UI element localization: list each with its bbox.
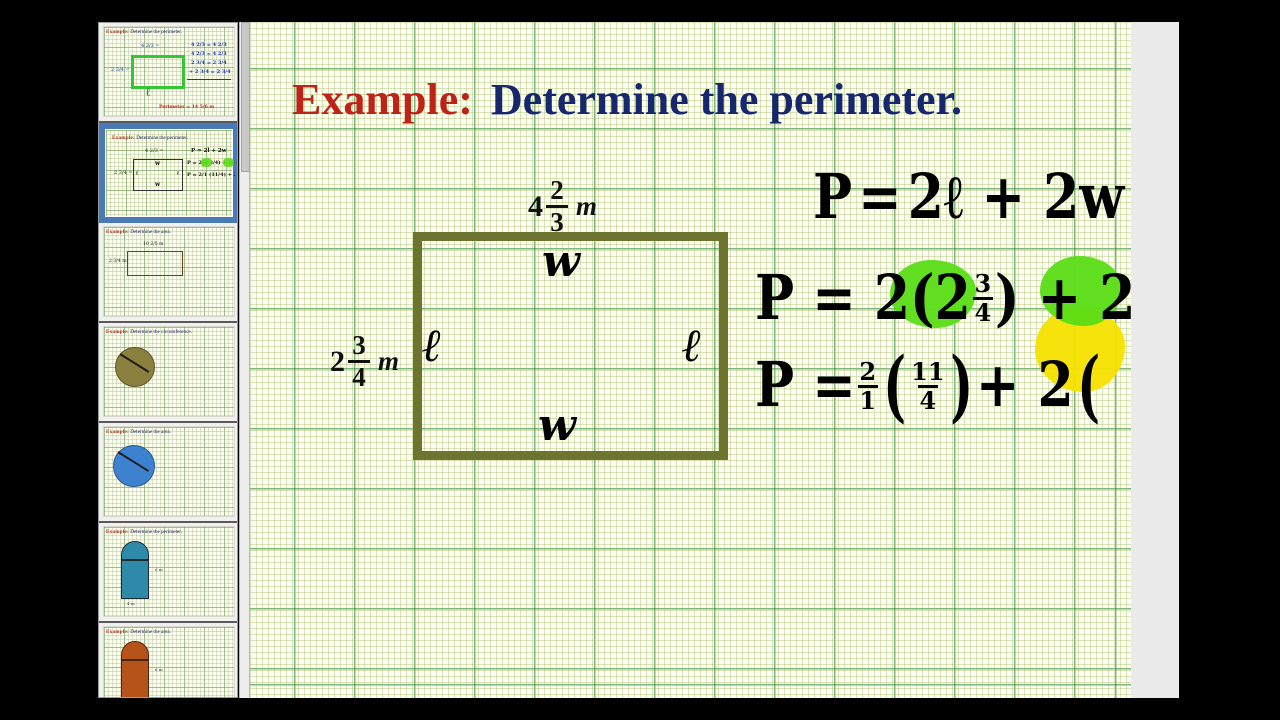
- dim-left-numerator: 3: [352, 332, 366, 359]
- work-line-2-middle: ) + 2(: [995, 268, 1131, 329]
- frac1-numerator: 11: [911, 360, 944, 384]
- title-example-word: Example:: [292, 75, 473, 124]
- thumbnail-label-w-top: w: [155, 160, 160, 167]
- thumbnail-item-5[interactable]: Example: Determine the area.: [99, 423, 238, 523]
- thumbnail-dim-top-1: 4 2/3 =: [141, 43, 160, 49]
- thumbnail-item-4[interactable]: Example: Determine the circumference.: [99, 323, 238, 423]
- thumbnail-dim-top-2: 4 2/3 =: [145, 148, 164, 154]
- thumbnail-answer-1: Perimeter = 14 5/6 m: [159, 105, 214, 110]
- thumbnail-label-l-right: ℓ: [177, 170, 179, 177]
- sidebar-scrollbar-track[interactable]: [239, 22, 250, 698]
- work-line-1: P = 2ℓ + 2w: [813, 172, 1124, 224]
- work-line-2: P = 2( 2 3 4 ) + 2( 4 2 3 ): [755, 272, 1131, 325]
- work-line-3-prefix: P =: [755, 355, 856, 416]
- length-label-left: ℓ: [422, 318, 442, 372]
- thumbnail-dim-left-3: 2 3/4 m: [109, 259, 127, 264]
- thumbnail-title-6: Example: Determine the perimeter.: [106, 529, 235, 536]
- thumbnail-work-2a: P = 2l + 2w: [191, 148, 227, 154]
- work-line-1-lhs: P: [813, 167, 852, 228]
- width-label-bottom: w: [538, 400, 576, 451]
- thumbnail-highlight-green: [201, 158, 212, 167]
- thumbnail-work-1d: + 2 3/4 = 2 3/4: [189, 69, 231, 75]
- work-line-2-term1-whole: 2: [935, 268, 971, 329]
- thumbnail-title-1: Example: Determine the perimeter.: [106, 29, 235, 36]
- work-line-2-prefix: P = 2(: [755, 268, 935, 329]
- thumbnail-label-w-bot: w: [155, 181, 160, 188]
- thumbnail-label-example: Example:: [106, 529, 129, 535]
- work-line-3-open-paren-1: (: [883, 347, 906, 425]
- canvas-right-margin: [1131, 22, 1179, 698]
- factor-denominator: 1: [859, 389, 876, 413]
- thumbnail-work-1a: 4 2/3 = 4 2/3: [191, 42, 227, 48]
- sidebar-scrollbar-thumb[interactable]: [241, 22, 250, 172]
- dim-left-denominator: 4: [352, 364, 366, 391]
- thumbnail-sidebar[interactable]: Example: Determine the perimeter. 4 2/3 …: [98, 22, 238, 698]
- arch-chord-line: [121, 659, 149, 661]
- orange-arch-shape: [121, 641, 149, 698]
- thumbnail-title-7: Example: Determine the area.: [106, 629, 235, 636]
- thumbnail-title-5: Example: Determine the area.: [106, 429, 235, 436]
- thumbnail-height-label-6: 6 m: [155, 567, 163, 572]
- work-line-3-middle: + 2: [976, 355, 1074, 416]
- work-line-3-fraction-1: 11 4: [911, 360, 944, 413]
- thumbnail-label-example: Example:: [106, 29, 129, 35]
- dimension-label-top: 4 2 3 m: [528, 177, 597, 236]
- dim-top-unit: m: [576, 191, 597, 222]
- dim-left-whole: 2: [330, 345, 345, 379]
- thumbnail-label-example: Example:: [106, 229, 129, 235]
- factor-numerator: 2: [859, 360, 876, 384]
- thumbnail-title-4: Example: Determine the circumference.: [106, 329, 235, 336]
- thumbnail-label-rest: Determine the area.: [130, 229, 171, 235]
- work-line-1-rhs: 2ℓ + 2w: [908, 167, 1124, 228]
- work-line-3: P = 2 1 ( 11 4 ) + 2 (: [755, 355, 1103, 417]
- page-title: Example:Determine the perimeter.: [292, 74, 962, 125]
- thumbnail-item-7[interactable]: Example: Determine the area. 6 m: [99, 623, 238, 698]
- brown-rectangle-shape: [127, 251, 183, 276]
- thumbnail-width-label-6: 4 m: [127, 601, 135, 606]
- frac1-denominator: 4: [919, 389, 936, 413]
- title-prompt: Determine the perimeter.: [491, 75, 962, 124]
- width-label-top: w: [542, 236, 580, 287]
- thumbnail-label-example: Example:: [112, 135, 135, 141]
- thumbnail-work-1b: 4 2/3 = 4 2/3: [191, 51, 227, 57]
- thumbnail-item-1[interactable]: Example: Determine the perimeter. 4 2/3 …: [99, 23, 238, 123]
- green-rectangle-shape: [131, 55, 185, 89]
- thumbnail-dim-left-2: 2 3/4 =: [114, 170, 133, 176]
- thumbnail-label-rest: Determine the perimeter.: [130, 529, 182, 535]
- thumbnail-label-example: Example:: [106, 429, 129, 435]
- dim-top-fraction: 2 3: [546, 177, 568, 236]
- dim-top-whole: 4: [528, 190, 543, 224]
- work-line-1-equals: =: [858, 167, 902, 228]
- length-label-right: ℓ: [682, 318, 702, 372]
- thumbnail-label-rest: Determine the area.: [130, 429, 171, 435]
- screen: Example: Determine the perimeter. 4 2/3 …: [0, 0, 1280, 720]
- thumbnail-label-rest: Determine the perimeter.: [130, 29, 182, 35]
- thumbnail-scribble-1: ℓ: [145, 85, 151, 100]
- thumbnail-dim-left-1: 2 3/4 =: [111, 67, 130, 73]
- work-line-3-factor: 2 1: [858, 360, 878, 413]
- term1-numerator: 3: [975, 272, 992, 296]
- thumbnail-title-2: Example: Determine the perimeter.: [112, 135, 231, 142]
- thumbnail-title-3: Example: Determine the area.: [106, 229, 235, 236]
- thumbnail-item-2[interactable]: Example: Determine the perimeter. 4 2/3 …: [99, 123, 238, 223]
- thumbnail-work-1c: 2 3/4 = 2 3/4: [191, 60, 227, 66]
- thumbnail-label-rest: Determine the perimeter.: [136, 135, 188, 141]
- thumbnail-item-3[interactable]: Example: Determine the area. 10 2/5 m 2 …: [99, 223, 238, 323]
- term1-denominator: 4: [975, 301, 992, 325]
- thumbnail-divider-line: [187, 79, 231, 80]
- dim-top-numerator: 2: [550, 177, 564, 204]
- thumbnail-label-l-left: ℓ: [136, 170, 138, 177]
- thumbnail-dim-top-3: 10 2/5 m: [143, 242, 164, 247]
- work-line-2-term1-fraction: 3 4: [973, 272, 993, 325]
- thumbnail-item-6[interactable]: Example: Determine the perimeter. 6 m 4 …: [99, 523, 238, 623]
- thumbnail-height-label-7: 6 m: [155, 667, 163, 672]
- thumbnail-label-example: Example:: [106, 629, 129, 635]
- thumbnail-label-example: Example:: [106, 329, 129, 335]
- dim-left-unit: m: [378, 346, 399, 377]
- thumbnail-label-rest: Determine the circumference.: [130, 329, 192, 335]
- thumbnail-label-rest: Determine the area.: [130, 629, 171, 635]
- dimension-label-left: 2 3 4 m: [330, 332, 399, 391]
- thumbnail-highlight-green-2: [223, 158, 234, 167]
- graph-paper-canvas[interactable]: Example:Determine the perimeter. 4 2 3 m…: [250, 22, 1131, 698]
- thumbnail-work-2c: P = 2/1 (11/4) + 2(: [187, 172, 238, 178]
- arch-chord-line: [121, 559, 149, 561]
- work-line-3-close-paren-1: ): [950, 347, 973, 425]
- work-line-3-open-paren-2: (: [1077, 347, 1100, 425]
- teal-arch-shape: [121, 541, 149, 599]
- dim-left-fraction: 3 4: [348, 332, 370, 391]
